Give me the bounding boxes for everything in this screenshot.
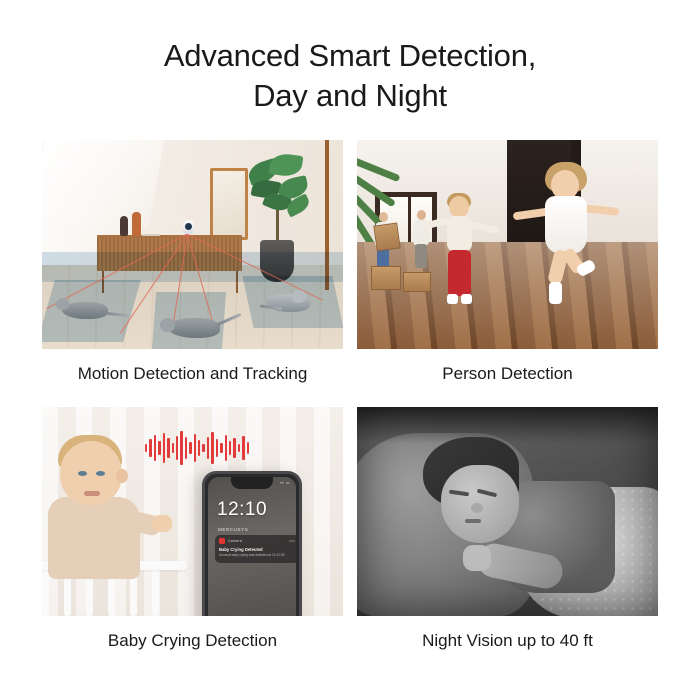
adult-legs [415,244,427,268]
waveform-bar [233,438,235,458]
feature-card-person-detection: Person Detection [357,140,658,393]
waveform-bar [247,442,249,454]
child-dress [545,196,587,254]
child-sock [461,294,472,304]
feature-card-motion-detection: Motion Detection and Tracking [42,140,343,393]
child-sock [447,294,458,304]
person-detection-image [357,140,658,349]
baby-crying-detection-image: ▪▪ ▭ 12:10 MERCUSYS Camera now Baby Cryi… [42,407,343,616]
notification-app-name: Camera [228,539,242,543]
feature-card-baby-crying-detection: ▪▪ ▭ 12:10 MERCUSYS Camera now Baby Cryi… [42,407,343,660]
child-pants [448,250,471,296]
page-title: Advanced Smart Detection, Day and Night [0,36,700,116]
waveform-bar [167,438,169,458]
camera-app-icon [219,538,225,544]
crib-bar [42,568,49,616]
waveform-bar [154,435,156,461]
decor-books [142,228,160,236]
baby-ear [116,469,128,483]
feature-caption-night-vision: Night Vision up to 40 ft [357,616,658,660]
push-notification[interactable]: Camera now Baby Crying Detected Unusual … [215,535,296,563]
child-head [449,196,469,218]
waveform-bar [149,439,151,457]
moving-box [403,272,431,292]
phone-screen: ▪▪ ▭ 12:10 MERCUSYS Camera now Baby Cryi… [208,477,296,616]
feature-grid: Motion Detection and Tracking [42,140,658,660]
baby-mouth [84,491,100,496]
waveform-bar [172,443,174,453]
feature-caption-motion-detection: Motion Detection and Tracking [42,349,343,393]
feature-caption-person-detection: Person Detection [357,349,658,393]
decor-vase [132,212,141,236]
floor-highlight [357,242,658,349]
child-torso [447,216,472,252]
cat-head [160,318,175,332]
security-camera [183,220,194,234]
vignette [357,407,658,616]
mirror [210,168,248,240]
cat-head [56,298,69,310]
feature-card-night-vision: Night Vision up to 40 ft [357,407,658,660]
feature-caption-baby-crying-detection: Baby Crying Detection [42,616,343,660]
page-title-line-1: Advanced Smart Detection, [164,38,536,73]
phone-notch [231,477,273,489]
moving-box [373,222,400,251]
crib-bar [152,568,159,616]
decor-vase [120,216,128,236]
waveform-bar [189,442,191,454]
baby-hand [152,515,172,532]
waveform-bar [198,440,200,456]
notification-time: now [289,539,295,543]
waveform-bar [158,441,160,455]
waveform-bar [242,436,244,460]
waveform-bar [220,443,222,453]
baby-eye [78,471,87,476]
adult-head [417,210,426,220]
waveform-bar [176,436,178,460]
cat-head [292,290,306,303]
waveform-bar [180,431,182,465]
child-sock [549,282,562,304]
app-brand-label: MERCUSYS [218,527,248,532]
baby-eye [96,471,105,476]
notification-body: Unusual baby crying was detected at 12:1… [219,553,295,557]
notification-header: Camera now [219,538,295,544]
waveform-bar [202,444,204,452]
waveform-bar [185,437,187,459]
waveform-bar [194,434,196,462]
waveform-bar [229,441,231,455]
sound-waveform-icon [145,429,249,467]
page-root: Advanced Smart Detection, Day and Night [0,0,700,700]
lockscreen-clock: 12:10 [217,499,267,521]
motion-detection-image [42,140,343,349]
waveform-bar [207,437,209,459]
moving-box [371,266,401,290]
smartphone: ▪▪ ▭ 12:10 MERCUSYS Camera now Baby Cryi… [202,471,302,616]
waveform-bar [211,432,213,464]
phone-status-bar: ▪▪ ▭ [280,480,290,485]
waveform-bar [163,433,165,463]
waveform-bar [145,444,147,452]
waveform-bar [225,435,227,461]
adult-head [379,212,388,222]
waveform-bar [238,444,240,452]
page-title-line-2: Day and Night [0,76,700,116]
cat-body [168,318,220,338]
waveform-bar [216,439,218,457]
night-vision-image [357,407,658,616]
notification-title: Baby Crying Detected [219,547,295,552]
palm-frond [357,156,401,182]
